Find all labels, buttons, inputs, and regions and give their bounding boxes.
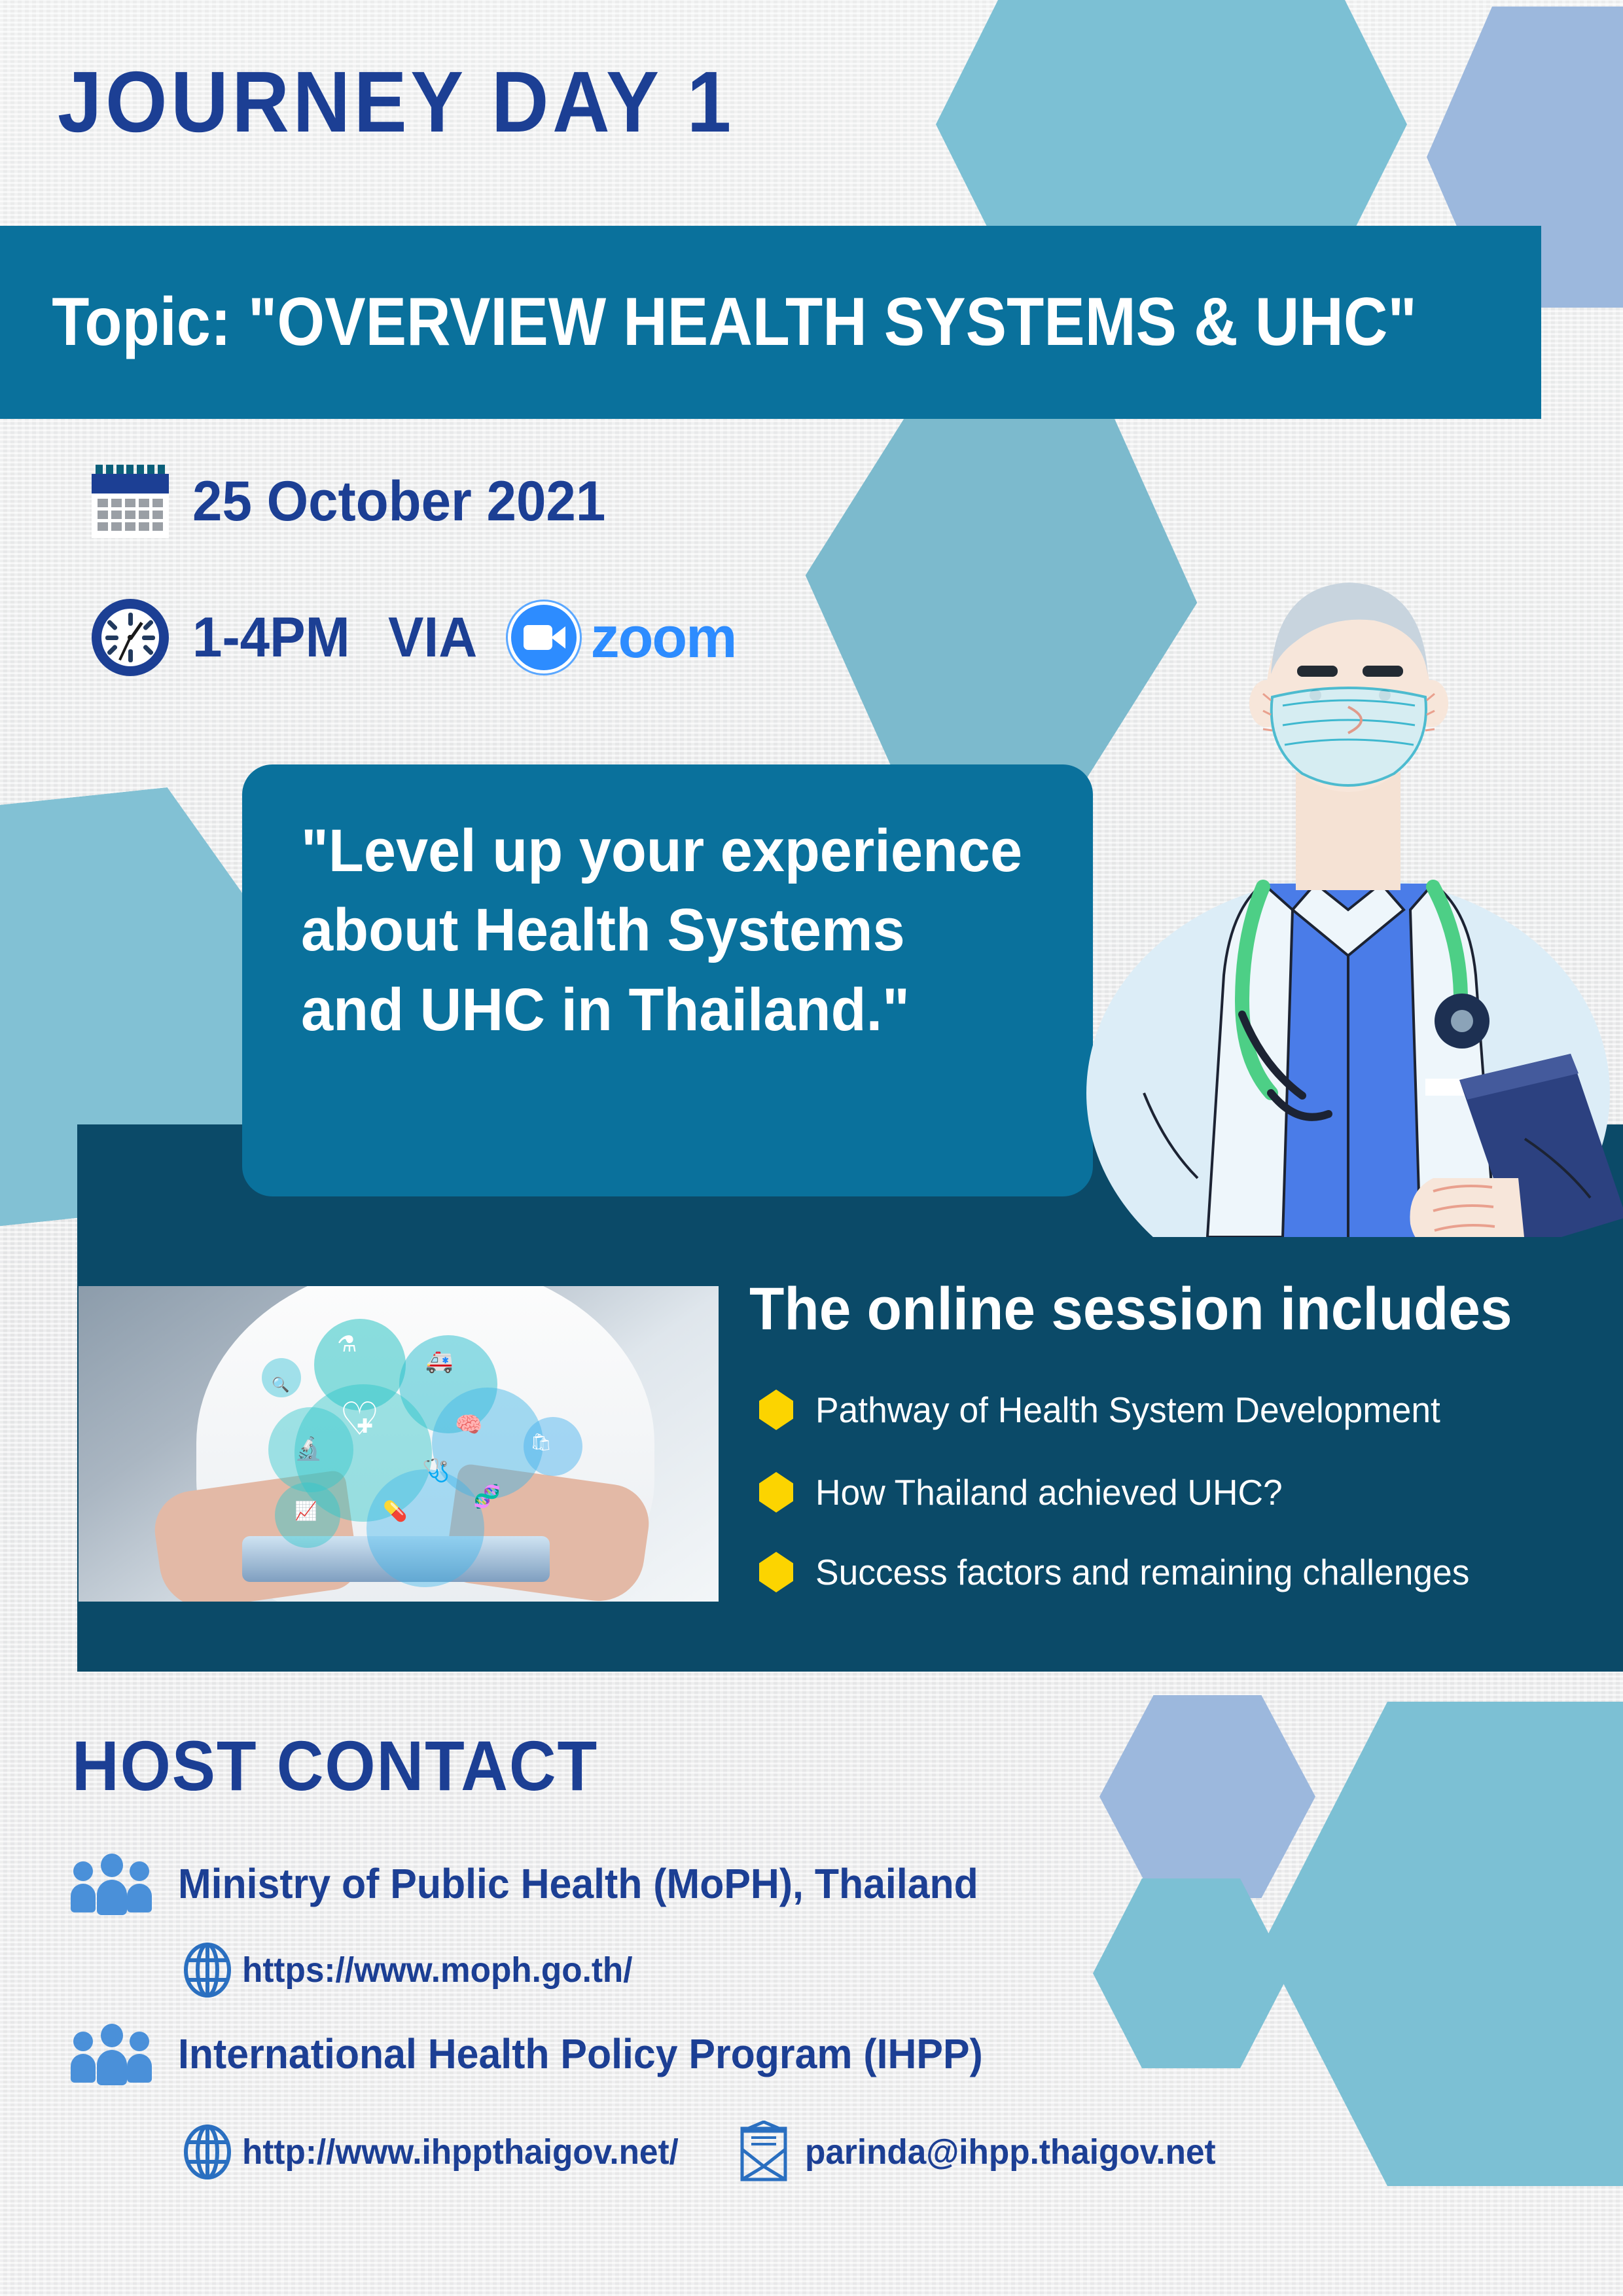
includes-item-label: Success factors and remaining challenges (815, 1551, 1469, 1593)
people-group-icon (71, 1852, 154, 1915)
includes-item-label: Pathway of Health System Development (815, 1389, 1440, 1431)
topic-text: Topic: "OVERVIEW HEALTH SYSTEMS & UHC" (0, 283, 1417, 361)
quote-line-2: about Health Systems (301, 891, 1061, 970)
contact-email[interactable]: parinda@ihpp.thaigov.net (805, 2132, 1216, 2172)
contact-org-row: International Health Policy Program (IHP… (71, 2022, 1025, 2085)
globe-icon (183, 1943, 232, 1998)
via-label: VIA (388, 605, 477, 670)
quote-card: "Level up your experience about Health S… (242, 764, 1093, 1196)
event-time-text: 1-4PM (192, 605, 350, 670)
quote-line-3: and UHC in Thailand." (301, 971, 1061, 1050)
quote-line-1: "Level up your experience (301, 812, 1061, 891)
globe-icon (183, 2125, 232, 2179)
clock-icon (92, 599, 169, 676)
includes-heading: The online session includes (749, 1275, 1512, 1344)
zoom-logo: zoom (511, 604, 736, 671)
hexagon-bullet-icon (759, 1390, 793, 1430)
contact-org-row: Ministry of Public Health (MoPH), Thaila… (71, 1852, 1020, 1915)
contact-org-name: Ministry of Public Health (MoPH), Thaila… (178, 1859, 978, 1908)
poster-title: JOURNEY DAY 1 (58, 52, 735, 151)
contact-url-mail-row[interactable]: http://www.ihppthaigov.net/ parinda@ihpp… (183, 2121, 1238, 2183)
includes-list-item: Success factors and remaining challenges (759, 1551, 1489, 1593)
includes-list-item: How Thailand achieved UHC? (759, 1471, 1297, 1513)
doctor-illustration (1067, 517, 1623, 1237)
contact-url-row[interactable]: https://www.moph.go.th/ (183, 1943, 653, 1998)
contact-org-name: International Health Policy Program (IHP… (178, 2030, 983, 2078)
includes-list-item: Pathway of Health System Development (759, 1389, 1459, 1431)
hexagon-bullet-icon (759, 1552, 793, 1592)
calendar-icon (92, 465, 169, 538)
people-group-icon (71, 2022, 154, 2085)
includes-item-label: How Thailand achieved UHC? (815, 1471, 1283, 1513)
health-tech-photo: ⚗ 🚑 ♡ ✚ 🧠 🔬 🩺 🛍 🧬 📈 💊 🔍 (79, 1286, 719, 1602)
hexagon-bullet-icon (759, 1472, 793, 1513)
zoom-camera-icon (511, 605, 577, 670)
event-date-text: 25 October 2021 (192, 469, 605, 534)
mail-icon (738, 2121, 789, 2183)
event-time-row: 1-4PM VIA zoom (92, 599, 736, 676)
contact-url[interactable]: https://www.moph.go.th/ (242, 1950, 632, 1990)
contact-url[interactable]: http://www.ihppthaigov.net/ (242, 2132, 679, 2172)
zoom-wordmark: zoom (591, 604, 736, 671)
topic-banner: Topic: "OVERVIEW HEALTH SYSTEMS & UHC" (0, 226, 1541, 419)
host-contact-heading: HOST CONTACT (72, 1725, 598, 1806)
event-date-row: 25 October 2021 (92, 465, 627, 538)
